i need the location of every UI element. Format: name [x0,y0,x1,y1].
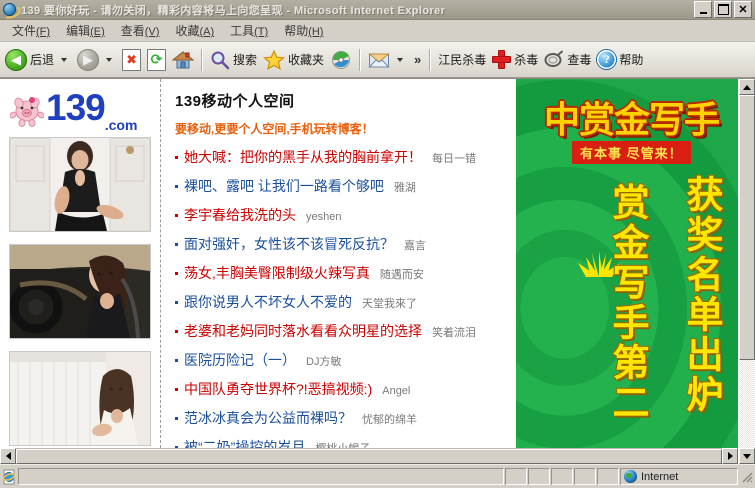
article-link[interactable]: 面对强奸，女性该不该冒死反抗？ [184,236,394,252]
toolbar-separator-2 [359,49,361,71]
antivirus-scan-button[interactable]: 查毒 [541,45,594,75]
magnifier-scan-icon [544,50,564,69]
list-item[interactable]: 范冰冰真会为公益而裸吗？ 忧郁的绵羊 [175,410,516,428]
bullet-icon [175,330,178,333]
resize-grip[interactable] [740,470,754,484]
stop-icon: ✖ [122,49,141,71]
mail-icon [368,51,390,69]
bullet-icon [175,185,178,188]
scroll-up-button[interactable] [739,79,755,95]
toolbar-overflow-button[interactable]: » [410,52,425,67]
window-title: 139 要你好玩 - 请勿关闭，精彩内容将马上向您呈现 - Microsoft … [21,2,694,18]
article-link[interactable]: 范冰冰真会为公益而裸吗？ [184,410,352,426]
status-pane-1 [505,468,527,485]
scroll-left-button[interactable] [0,448,16,464]
antivirus-help-button[interactable]: ? 帮助 [594,45,646,75]
page-center-column: 139移动个人空间 要移动,更要个人空间,手机玩转博客！ 她大喊：把你的黑手从我… [161,79,516,448]
menu-item-edit[interactable]: 编辑(E) [58,20,113,41]
menu-item-tools[interactable]: 工具(T) [222,20,276,41]
logo-suffix: .com [105,117,138,133]
horizontal-scroll-thumb[interactable] [16,449,722,464]
list-item[interactable]: 她大喊：把你的黑手从我的胸前拿开！ 每日一错 [175,149,516,167]
article-author: 樱桃小蝎子 [315,441,370,448]
article-link[interactable]: 她大喊：把你的黑手从我的胸前拿开！ [184,149,422,165]
list-item[interactable]: 被“二奶”操控的岁月 樱桃小蝎子 [175,439,516,448]
status-pane-3 [551,468,573,485]
horizontal-scroll-track[interactable] [16,448,722,464]
article-link[interactable]: 裸吧、露吧 让我们一路看个够吧 [184,178,384,194]
scroll-right-button[interactable] [722,448,738,464]
article-author: 每日一错 [432,151,476,167]
internet-zone-globe-icon [624,470,637,483]
mail-button[interactable] [365,45,410,75]
web-page-content: 139 .com [0,79,738,448]
article-author: yeshen [306,209,341,225]
list-item[interactable]: 李宇春给我洗的头 yeshen [175,207,516,225]
security-zone-label: Internet [641,471,678,483]
photo-thumbnail-2[interactable] [9,244,151,339]
article-link[interactable]: 老婆和老妈同时落水看看众明星的选择 [184,323,422,339]
toolbar-separator-3 [429,49,431,71]
maximize-button[interactable] [714,1,732,18]
refresh-button[interactable]: ⟳ [144,45,169,75]
article-link-list: 她大喊：把你的黑手从我的胸前拿开！ 每日一错 裸吧、露吧 让我们一路看个够吧 雅… [175,149,516,448]
banner-vertical-text-right: 获奖名单出炉 [683,175,720,415]
list-item[interactable]: 面对强奸，女性该不该冒死反抗？ 嘉言 [175,236,516,254]
media-button[interactable] [327,45,355,75]
title-bar: 139 要你好玩 - 请勿关闭，精彩内容将马上向您呈现 - Microsoft … [0,0,755,20]
article-author: 天堂我來了 [362,296,417,312]
bullet-icon [175,156,178,159]
search-icon [210,50,230,70]
vertical-scroll-thumb[interactable] [739,95,755,360]
forward-arrow-icon: ▶ [77,49,99,71]
browser-window: 139 要你好玩 - 请勿关闭，精彩内容将马上向您呈现 - Microsoft … [0,0,755,488]
antivirus-kill-button[interactable]: 杀毒 [489,45,541,75]
article-author: 随遇而安 [380,267,424,283]
scroll-down-button[interactable] [739,448,755,464]
back-dropdown-icon[interactable] [61,58,67,62]
toolbar: ◀ 后退 ▶ ✖ ⟳ [0,42,755,78]
red-cross-icon [492,50,511,69]
list-item[interactable]: 老婆和老妈同时落水看看众明星的选择 笑着流泪 [175,323,516,341]
status-message [18,468,504,485]
menu-item-file[interactable]: 文件(F) [4,20,58,41]
bullet-icon [175,214,178,217]
article-link[interactable]: 中国队勇夺世界杯?!恶搞视频:) [184,381,372,397]
minimize-button[interactable] [694,1,712,18]
home-icon [172,50,194,70]
photo-thumbnail-3[interactable] [9,351,151,446]
bullet-icon [175,301,178,304]
article-link[interactable]: 跟你说男人不坏女人不爱的 [184,294,352,310]
article-link[interactable]: 荡女,丰胸美臀限制级火辣写真 [184,265,370,281]
article-author: 忧郁的绵羊 [362,412,417,428]
page-left-column: 139 .com [0,79,161,448]
back-arrow-icon: ◀ [5,49,27,71]
refresh-icon: ⟳ [147,49,166,71]
forward-button[interactable]: ▶ [74,45,119,75]
window-controls: ✕ [694,1,752,18]
article-link[interactable]: 李宇春给我洗的头 [184,207,296,223]
page-subtitle: 要移动,更要个人空间,手机玩转博客！ [175,120,516,137]
bullet-icon [175,272,178,275]
banner-logo-label: 中赏金写手 [544,99,719,140]
logo-digits: 139 [46,89,105,127]
list-item[interactable]: 裸吧、露吧 让我们一路看个够吧 雅湖 [175,178,516,196]
mail-dropdown-icon[interactable] [397,58,403,62]
site-logo[interactable]: 139 .com [0,79,160,137]
toolbar-separator-1 [201,49,203,71]
menu-bar: 文件(F) 编辑(E) 查看(V) 收藏(A) 工具(T) 帮助(H) [0,20,755,42]
bullet-icon [175,243,178,246]
stop-button[interactable]: ✖ [119,45,144,75]
page-title: 139移动个人空间 [175,90,516,111]
advertisement-banner[interactable]: 中赏金写手 有本事 尽管来！ 获奖名单出炉 [516,79,738,448]
menu-item-help[interactable]: 帮助(H) [276,20,331,41]
bullet-icon [175,359,178,362]
status-pane-2 [528,468,550,485]
article-author: 雅湖 [394,180,416,196]
article-link[interactable]: 医院历险记（一） [184,352,296,368]
article-author: DJ方敏 [306,354,341,370]
list-item[interactable]: 医院历险记（一） DJ方敏 [175,352,516,370]
menu-item-view[interactable]: 查看(V) [113,20,168,41]
list-item[interactable]: 跟你说男人不坏女人不爱的 天堂我來了 [175,294,516,312]
star-icon [263,50,285,70]
photo-thumbnail-1[interactable] [9,137,151,232]
browser-viewport: 139 .com [0,78,755,464]
banner-tagline: 有本事 尽管来！ [572,141,691,164]
bullet-icon [175,417,178,420]
antivirus-brand-label: 江民杀毒 [435,45,489,75]
article-author: Angel [382,383,410,399]
horizontal-scrollbar[interactable] [0,448,738,464]
back-button[interactable]: ◀ 后退 [2,45,74,75]
question-mark-icon: ? [597,50,616,69]
close-button[interactable]: ✕ [734,1,752,18]
list-item[interactable]: 中国队勇夺世界杯?!恶搞视频:) Angel [175,381,516,399]
article-author: 笑着流泪 [432,325,476,341]
ie-globe-icon [2,2,18,18]
menu-item-favorites[interactable]: 收藏(A) [167,20,222,41]
pig-mascot-icon [10,89,44,127]
status-bar: Internet [0,464,755,488]
home-button[interactable] [169,45,197,75]
vertical-scroll-track[interactable] [739,95,755,448]
security-zone-pane[interactable]: Internet [620,468,738,485]
favorites-button[interactable]: 收藏夹 [260,45,327,75]
vertical-scrollbar[interactable] [738,79,755,464]
bullet-icon [175,388,178,391]
article-link[interactable]: 被“二奶”操控的岁月 [184,439,305,448]
list-item[interactable]: 荡女,丰胸美臀限制级火辣写真 随遇而安 [175,265,516,283]
banner-vertical-text-left: 赏金写手第二 [609,183,646,423]
status-pane-4 [574,468,596,485]
status-pane-5 [597,468,619,485]
search-button[interactable]: 搜索 [207,45,260,75]
media-icon [330,50,352,70]
ie-page-icon [1,469,17,485]
forward-dropdown-icon[interactable] [106,58,112,62]
article-author: 嘉言 [404,238,426,254]
